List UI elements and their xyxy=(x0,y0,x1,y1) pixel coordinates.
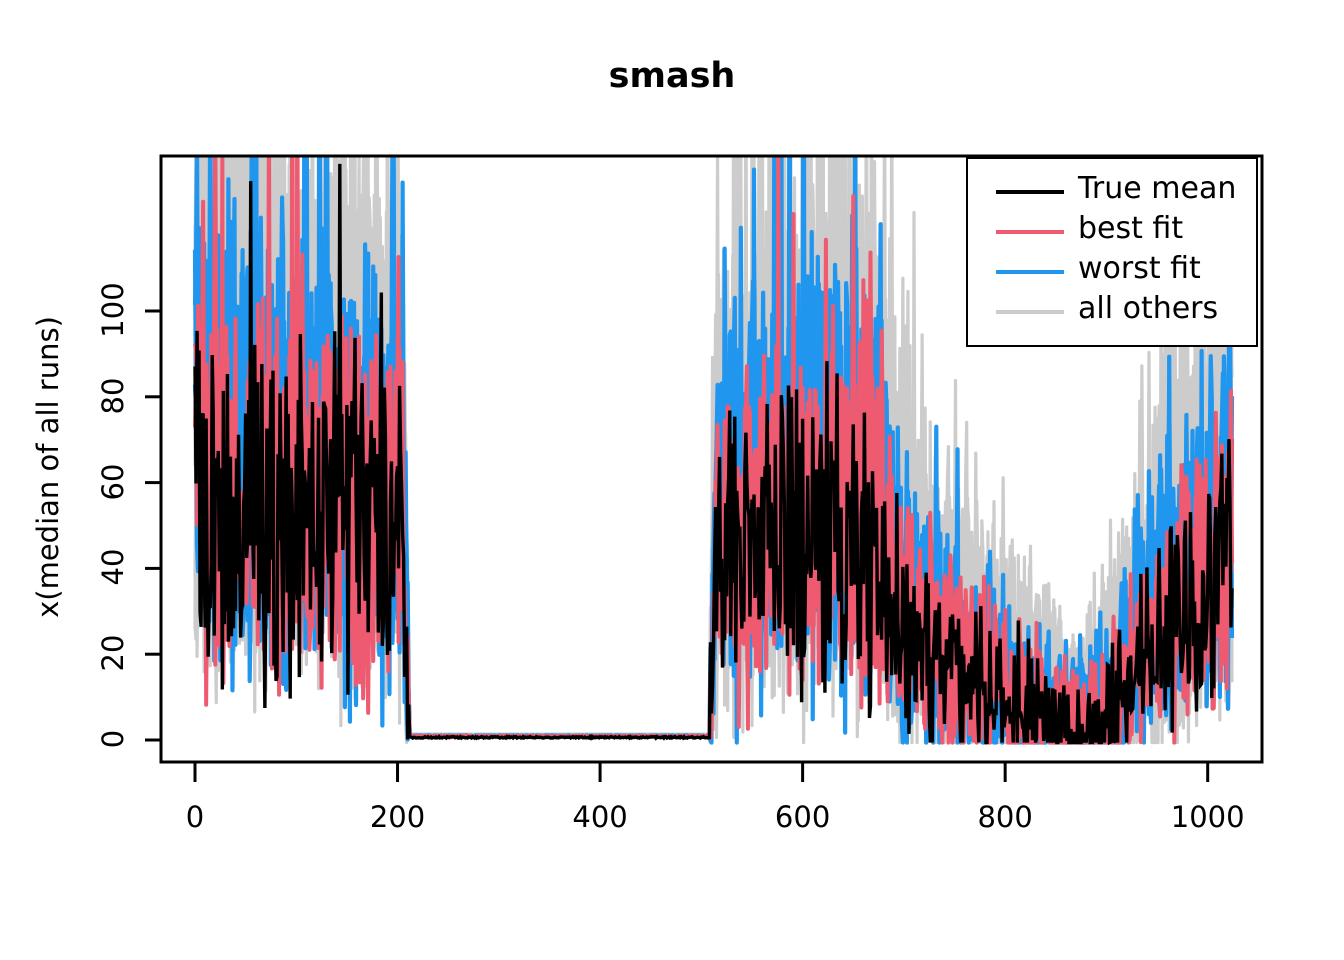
x-tick-label: 800 xyxy=(925,800,1085,834)
legend-item-all-others[interactable]: all others xyxy=(968,291,1260,331)
x-tick-label: 1000 xyxy=(1128,800,1288,834)
legend-swatch-icon xyxy=(996,230,1064,234)
x-tick-label: 600 xyxy=(723,800,883,834)
legend-item-worst-fit[interactable]: worst fit xyxy=(968,251,1260,291)
x-tick-label: 200 xyxy=(318,800,478,834)
y-tick-label: 100 xyxy=(96,250,130,370)
figure-canvas: smash x(median of all runs) 020406080100… xyxy=(0,0,1344,960)
legend-item-best-fit[interactable]: best fit xyxy=(968,211,1260,251)
legend-item-label: True mean xyxy=(1078,171,1236,206)
legend-swatch-icon xyxy=(996,270,1064,274)
legend-swatch-icon xyxy=(996,190,1064,194)
x-tick-label: 400 xyxy=(520,800,680,834)
legend-item-label: all others xyxy=(1078,291,1218,326)
legend[interactable]: True meanbest fitworst fitall others xyxy=(966,157,1258,347)
legend-item-true-mean[interactable]: True mean xyxy=(968,171,1260,211)
x-tick-label: 0 xyxy=(115,800,275,834)
legend-item-label: worst fit xyxy=(1078,251,1201,286)
legend-item-label: best fit xyxy=(1078,211,1183,246)
legend-swatch-icon xyxy=(996,310,1064,314)
